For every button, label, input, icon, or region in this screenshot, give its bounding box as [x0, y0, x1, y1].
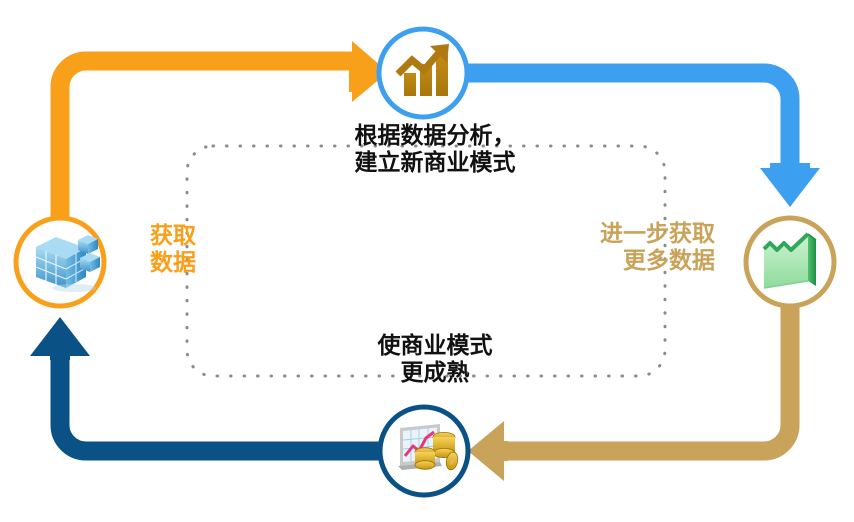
node-monetize[interactable] — [380, 407, 468, 495]
label-build-model: 根据数据分析， 建立新商业模式 — [300, 122, 570, 176]
node-more-data[interactable] — [746, 218, 834, 306]
label-gather-more: 进一步获取 更多数据 — [555, 220, 715, 274]
node-analytics[interactable] — [379, 29, 467, 117]
diagram-canvas: 根据数据分析， 建立新商业模式 使商业模式 更成熟 获取 数据 进一步获取 更多… — [0, 0, 854, 522]
label-mature-model: 使商业模式 更成熟 — [305, 332, 565, 386]
label-acquire-data: 获取 数据 — [150, 222, 270, 276]
diagram-svg — [0, 0, 854, 522]
node-data-store[interactable] — [16, 218, 104, 306]
